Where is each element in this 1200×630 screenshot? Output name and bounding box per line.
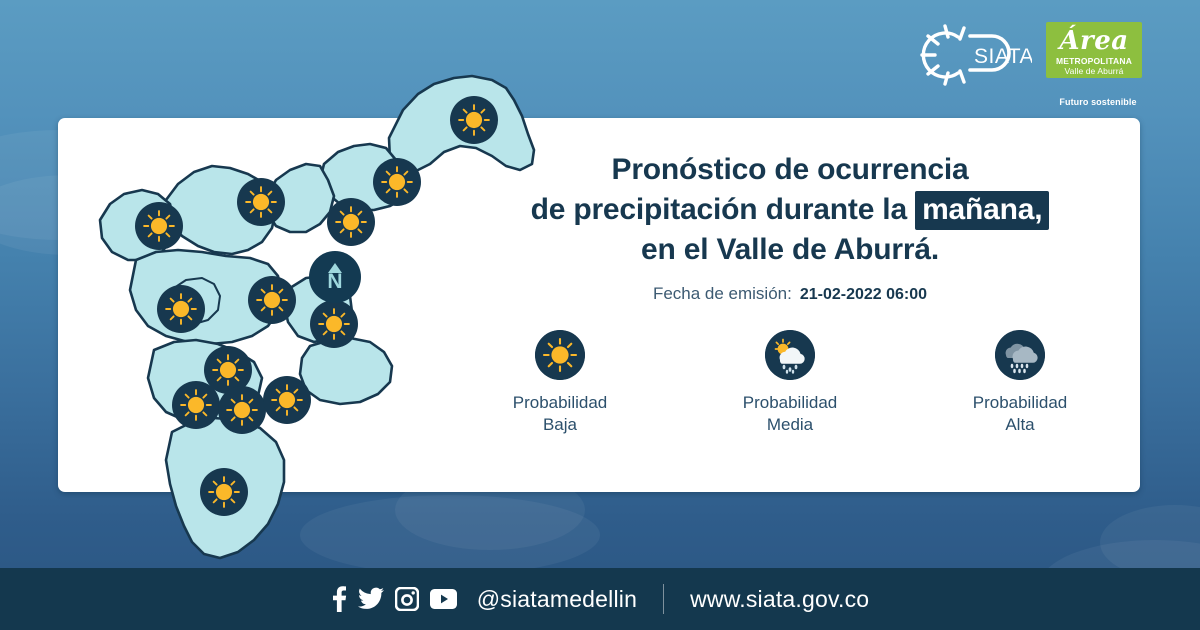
social-icon-group xyxy=(331,586,457,612)
map-marker-sun-icon-7[interactable] xyxy=(310,300,358,348)
legend-baja-line2: Baja xyxy=(543,415,577,434)
compass-label: N xyxy=(327,272,342,292)
map-marker-sun-icon-9[interactable] xyxy=(172,381,220,429)
legend-label-alta: Probabilidad Alta xyxy=(973,392,1068,436)
area-logo-line1: METROPOLITANA xyxy=(1050,56,1138,66)
sun-rain-cloud-icon xyxy=(765,330,815,380)
legend-alta-line2: Alta xyxy=(1005,415,1034,434)
svg-text:SIATA: SIATA xyxy=(974,45,1032,68)
legend-label-baja: Probabilidad Baja xyxy=(513,392,608,436)
legend-item-alta[interactable]: Probabilidad Alta xyxy=(945,330,1095,436)
legend-alta-line1: Probabilidad xyxy=(973,393,1068,412)
issue-date-value: 21-02-2022 06:00 xyxy=(800,286,927,304)
sun-cloud-icon: SIATA xyxy=(912,22,1032,88)
map-marker-sun-icon-3[interactable] xyxy=(237,178,285,226)
area-logo-line2: Valle de Aburrá xyxy=(1050,66,1138,76)
legend-label-media: Probabilidad Media xyxy=(743,392,838,436)
twitter-icon[interactable] xyxy=(358,587,384,611)
compass-north-icon: N xyxy=(309,251,361,303)
map-marker-sun-icon-5[interactable] xyxy=(248,276,296,324)
sun-icon xyxy=(535,330,585,380)
legend-item-media[interactable]: Probabilidad Media xyxy=(715,330,865,436)
map-marker-sun-icon-6[interactable] xyxy=(157,285,205,333)
area-logo-tagline: Futuro sostenible xyxy=(1059,97,1136,107)
youtube-icon[interactable] xyxy=(430,589,457,609)
infographic-root: SIATA Área METROPOLITANA Valle de Aburrá… xyxy=(0,0,1200,630)
footer-divider xyxy=(663,584,664,614)
legend-item-baja[interactable]: Probabilidad Baja xyxy=(485,330,635,436)
social-handle[interactable]: @siatamedellin xyxy=(477,586,637,613)
area-logo-script: Área xyxy=(1050,26,1138,56)
siata-logo[interactable]: SIATA xyxy=(912,22,1032,88)
rain-cloud-icon xyxy=(995,330,1045,380)
map-marker-sun-icon-2[interactable] xyxy=(327,198,375,246)
area-logo-tagline-wrap: Futuro sostenible xyxy=(1054,92,1142,110)
facebook-icon[interactable] xyxy=(331,586,347,612)
map-marker-sun-icon-12[interactable] xyxy=(200,468,248,516)
website-url[interactable]: www.siata.gov.co xyxy=(690,586,869,613)
instagram-icon[interactable] xyxy=(395,587,419,611)
map-marker-sun-icon-4[interactable] xyxy=(135,202,183,250)
legend-media-line2: Media xyxy=(767,415,813,434)
probability-legend: Probabilidad Baja xyxy=(470,330,1110,436)
page-title: Pronóstico de ocurrencia de precipitació… xyxy=(470,150,1110,270)
legend-media-line1: Probabilidad xyxy=(743,393,838,412)
map-marker-sun-icon-1[interactable] xyxy=(373,158,421,206)
map-marker-sun-icon-0[interactable] xyxy=(450,96,498,144)
footer-bar: @siatamedellin www.siata.gov.co xyxy=(0,568,1200,630)
map-marker-sun-icon-10[interactable] xyxy=(218,386,266,434)
title-highlight-manana: mañana, xyxy=(915,191,1049,230)
legend-baja-line1: Probabilidad xyxy=(513,393,608,412)
map-marker-sun-icon-11[interactable] xyxy=(263,376,311,424)
issue-date-label: Fecha de emisión: xyxy=(653,284,792,304)
forecast-content: Pronóstico de ocurrencia de precipitació… xyxy=(470,150,1110,436)
title-line-3: en el Valle de Aburrá. xyxy=(641,233,939,266)
title-line-2: de precipitación durante la xyxy=(531,193,907,226)
logo-group: SIATA Área METROPOLITANA Valle de Aburrá xyxy=(912,22,1142,88)
issue-date-row: Fecha de emisión: 21-02-2022 06:00 xyxy=(470,284,1110,304)
area-metropolitana-logo[interactable]: Área METROPOLITANA Valle de Aburrá xyxy=(1046,22,1142,78)
title-line-1: Pronóstico de ocurrencia xyxy=(612,153,969,186)
